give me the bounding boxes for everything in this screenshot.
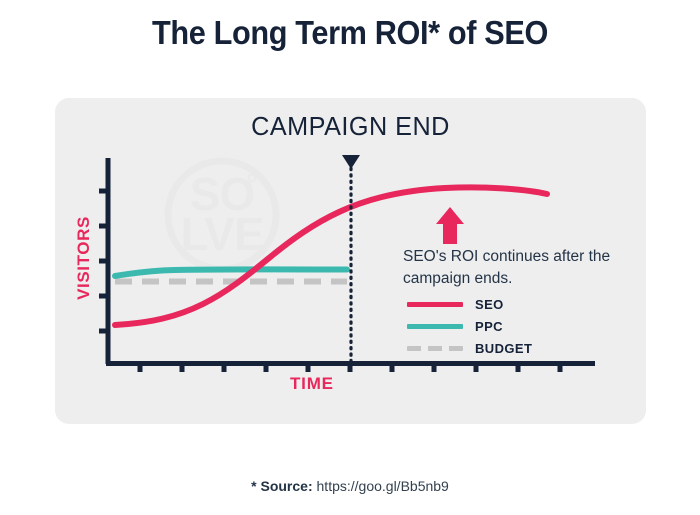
solve-watermark-icon: SO LVE (168, 161, 276, 269)
source-url[interactable]: https://goo.gl/Bb5nb9 (317, 478, 449, 494)
y-axis-title: VISITORS (74, 203, 94, 313)
series-line-ppc (115, 269, 347, 276)
svg-text:LVE: LVE (180, 208, 263, 260)
y-axis (99, 158, 108, 364)
annotation-text: SEO's ROI continues after the campaign e… (403, 246, 618, 290)
chart-legend: SEO PPC BUDGET (407, 296, 532, 362)
source-note: * Source: https://goo.gl/Bb5nb9 (0, 478, 700, 494)
legend-label-seo: SEO (475, 297, 504, 312)
page-title: The Long Term ROI* of SEO (25, 14, 676, 52)
x-axis-title: TIME (290, 374, 334, 394)
source-label: * Source: (251, 478, 312, 494)
x-axis (106, 364, 595, 373)
campaign-end-marker (342, 155, 360, 363)
legend-item-ppc[interactable]: PPC (407, 318, 532, 334)
legend-label-budget: BUDGET (475, 341, 532, 356)
up-arrow-icon (436, 207, 464, 244)
legend-swatch-ppc (407, 324, 463, 329)
campaign-end-label: CAMPAIGN END (64, 111, 637, 142)
legend-item-budget[interactable]: BUDGET (407, 340, 532, 356)
legend-swatch-seo (407, 302, 463, 307)
legend-swatch-budget (407, 346, 463, 351)
infographic-page: The Long Term ROI* of SEO CAMPAIGN END S… (0, 0, 700, 515)
legend-label-ppc: PPC (475, 319, 503, 334)
legend-item-seo[interactable]: SEO (407, 296, 532, 312)
chart-card: CAMPAIGN END SO LVE (55, 98, 646, 424)
